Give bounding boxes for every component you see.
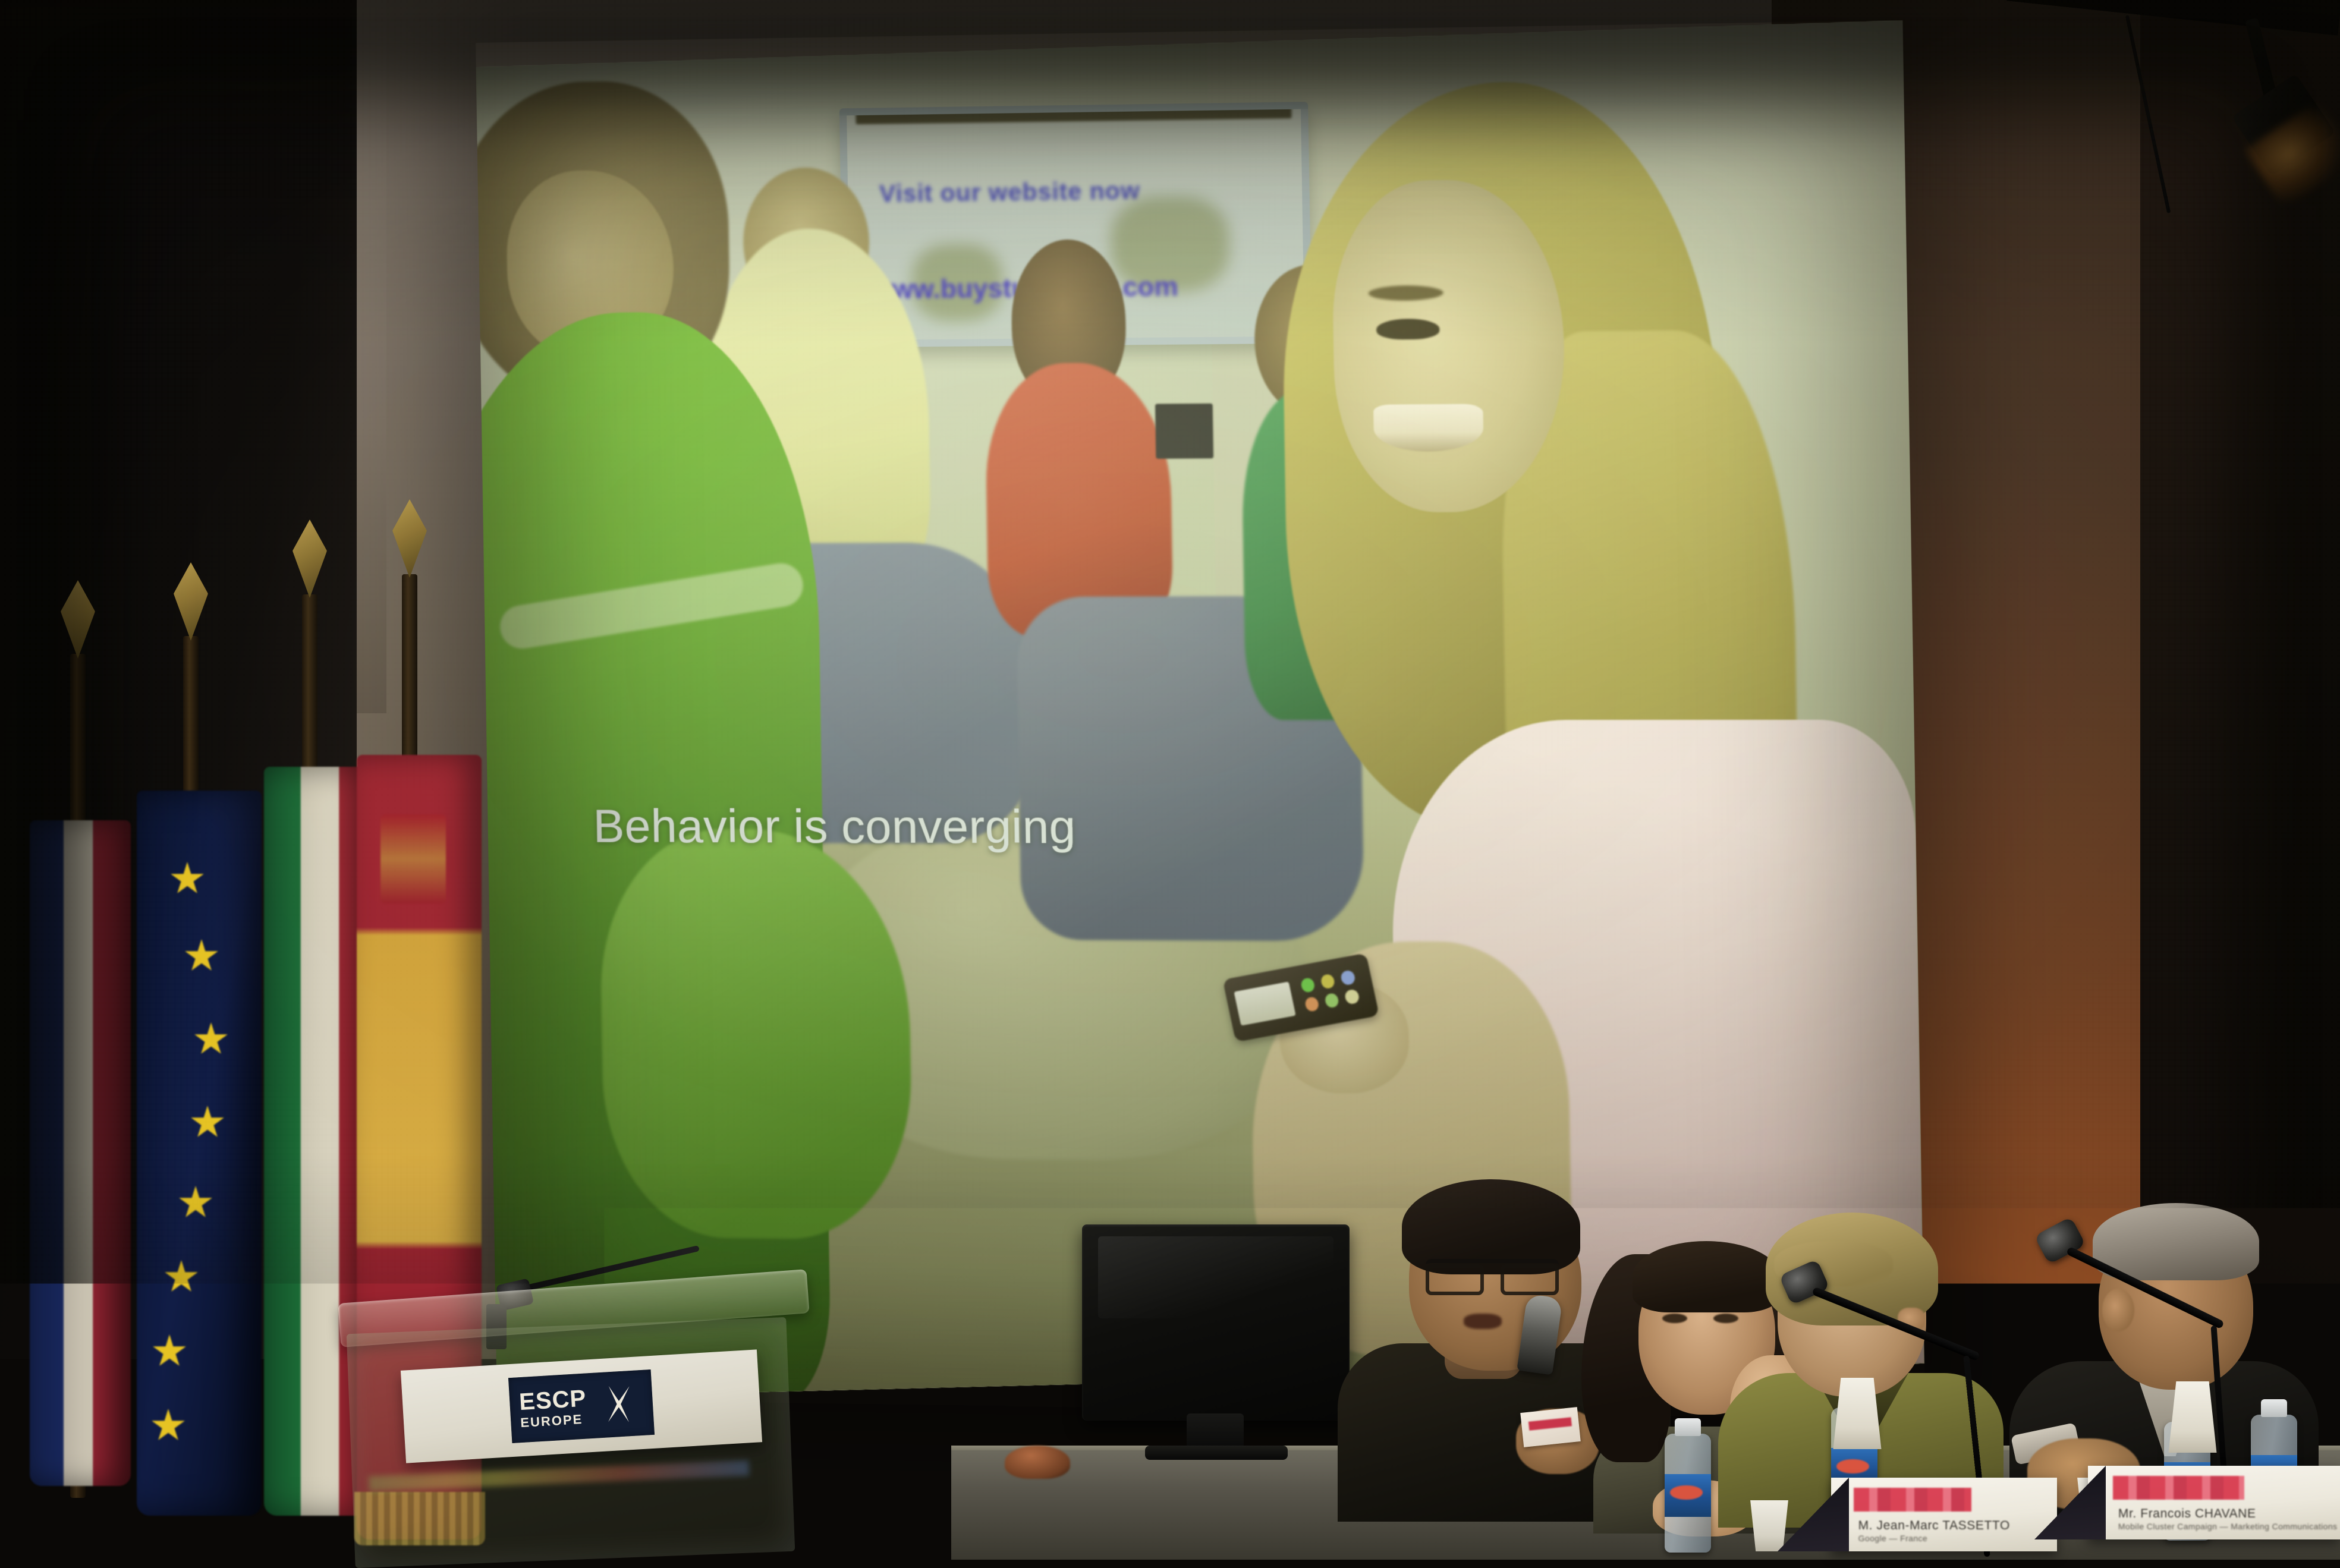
flag-finial-icon — [292, 519, 327, 598]
monitor-glare — [1098, 1236, 1333, 1319]
eu-star-icon — [194, 1022, 228, 1057]
eu-star-icon — [164, 1260, 199, 1295]
panelist-2-eye-left — [1662, 1314, 1687, 1323]
eu-star-icon — [152, 1334, 187, 1369]
spain-coat-of-arms-icon — [380, 814, 446, 903]
phone-app-icon — [1340, 969, 1356, 985]
slide-caption-text: Behavior is converging — [593, 799, 1076, 855]
slide-mobile-phone-screen — [1234, 981, 1295, 1025]
name-placard-right: Mr. Francois CHAVANE Mobile Cluster Camp… — [2088, 1466, 2340, 1539]
escp-logo-line-1: ESCP — [518, 1387, 587, 1415]
placard-name-text: Mr. Francois CHAVANE — [2118, 1507, 2315, 1521]
lectern: ESCP EUROPE — [333, 1272, 832, 1560]
escp-europe-logo: ESCP EUROPE — [508, 1369, 655, 1443]
phone-app-icon — [1344, 988, 1360, 1005]
phone-app-icon — [1304, 996, 1320, 1012]
slide-blonde-girl-eye — [1376, 319, 1439, 340]
monitor-panel — [1082, 1224, 1350, 1421]
computer-mouse — [1005, 1446, 1070, 1479]
name-placard-left: M. Jean-Marc TASSETTO Google — France — [1831, 1478, 2057, 1551]
phone-app-icon — [1300, 977, 1316, 993]
phone-app-icon — [1324, 992, 1340, 1008]
panelist-1-name-badge — [1520, 1407, 1581, 1447]
conference-hall-scene: Visit our website now www.buystufftoday.… — [0, 0, 2340, 1560]
panelist-4-ear — [2102, 1289, 2134, 1331]
escp-star-icon — [595, 1380, 643, 1428]
computer-monitor-rear — [1082, 1224, 1350, 1462]
monitor-stand — [1187, 1413, 1244, 1450]
water-bottle-label — [1665, 1474, 1711, 1517]
flag-finial-icon — [174, 562, 208, 641]
placard-role-text: Google — France — [1858, 1534, 2044, 1543]
france-flag — [30, 820, 131, 1486]
eu-star-icon — [151, 1409, 185, 1443]
panelist-4-hair — [2093, 1203, 2259, 1280]
eu-star-icon — [178, 1186, 213, 1220]
eyeglasses-icon — [1426, 1259, 1559, 1280]
flag-finial-icon — [61, 580, 95, 659]
placard-role-text: Mobile Cluster Campaign — Marketing Comm… — [2118, 1522, 2325, 1531]
eu-star-icon — [170, 862, 205, 896]
phone-app-icon — [1320, 974, 1336, 990]
eu-star-icon — [190, 1106, 225, 1140]
slide-blonde-girl-smile — [1373, 404, 1484, 452]
eu-star-icon — [184, 939, 219, 974]
flag-finial-icon — [392, 499, 427, 578]
placard-logo — [2113, 1476, 2244, 1500]
water-bottle — [1665, 1434, 1711, 1553]
placard-logo — [1854, 1488, 1971, 1512]
slide-tv-headline: Visit our website now — [879, 179, 1160, 207]
escp-logo-line-2: EUROPE — [520, 1412, 588, 1430]
slide-person-red-phone — [1155, 403, 1213, 458]
panelist-1-mouth — [1464, 1314, 1502, 1329]
european-union-flag — [137, 791, 262, 1516]
monitor-base — [1145, 1446, 1288, 1460]
placard-name-text: M. Jean-Marc TASSETTO — [1858, 1519, 2034, 1533]
